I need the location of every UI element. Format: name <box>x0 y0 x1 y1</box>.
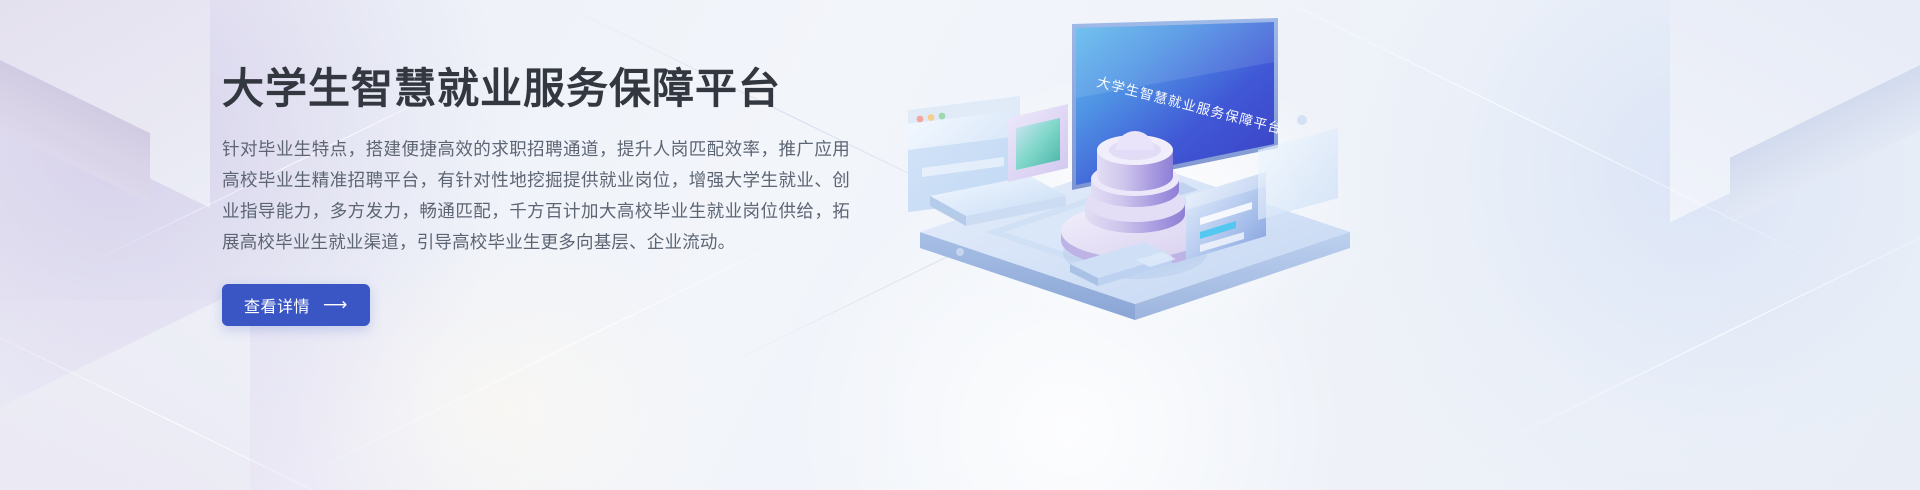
background-glow-lower-left <box>0 300 580 490</box>
hero-banner: 大学生智慧就业服务保障平台 针对毕业生特点，搭建便捷高效的求职招聘通道，提升人岗… <box>0 0 1920 490</box>
facet-top-left-side <box>0 0 150 203</box>
page-title: 大学生智慧就业服务保障平台 <box>222 64 862 114</box>
background-glow-right <box>1340 0 1920 490</box>
isometric-platform-illustration: 大学生智慧就业服务保障平台 <box>900 0 1370 330</box>
hairline-6 <box>1451 194 1920 467</box>
view-details-button[interactable]: 查看详情 ⟶ <box>222 284 370 326</box>
facet-top-left <box>0 0 210 208</box>
hero-copy: 大学生智慧就业服务保障平台 针对毕业生特点，搭建便捷高效的求职招聘通道，提升人岗… <box>222 64 862 326</box>
facet-top-right-side <box>1730 0 1920 224</box>
facet-bottom-left <box>0 285 250 490</box>
hero-description: 针对毕业生特点，搭建便捷高效的求职招聘通道，提升人岗匹配效率，推广应用高校毕业生… <box>222 134 850 258</box>
view-details-label: 查看详情 <box>244 293 310 317</box>
facet-top-right <box>1670 0 1920 222</box>
hairline-7 <box>0 319 377 490</box>
arrow-right-icon: ⟶ <box>323 296 348 313</box>
